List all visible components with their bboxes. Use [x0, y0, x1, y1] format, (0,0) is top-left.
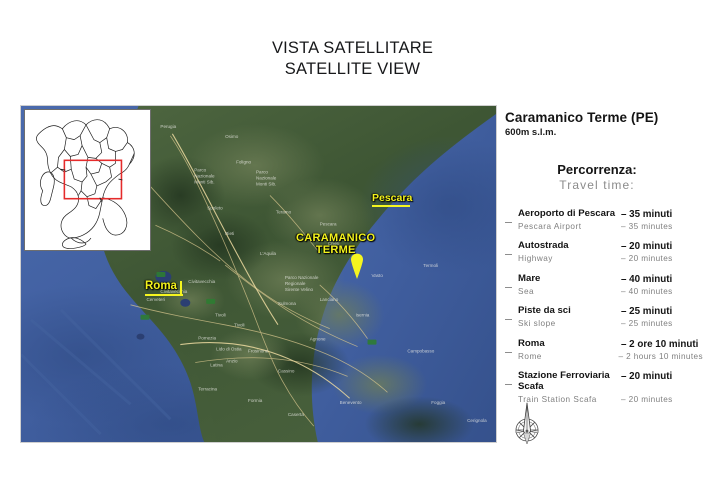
row-value-english: – 20 minutes [621, 254, 673, 263]
row-bullet-dash [505, 319, 512, 320]
svg-text:Pescara: Pescara [320, 221, 337, 226]
row-value-english: – 20 minutes [621, 395, 673, 404]
info-panel: Caramanico Terme (PE) 600m s.l.m. Percor… [505, 110, 703, 414]
row-value-english: – 25 minutes [621, 319, 673, 328]
svg-text:Termoli: Termoli [423, 263, 438, 268]
svg-text:Vasto: Vasto [372, 273, 384, 278]
row-name-italian: Autostrada [518, 241, 621, 252]
row-name-italian: Roma [518, 339, 621, 350]
travel-row-highway: Autostrada – 20 minuti Highway – 20 minu… [505, 241, 703, 263]
svg-text:Rieti: Rieti [225, 231, 234, 236]
page-title: VISTA SATELLITARE SATELLITE VIEW [0, 38, 705, 80]
map-label-pescara-underline [372, 205, 410, 207]
row-bullet-dash [505, 352, 512, 353]
svg-text:Latina: Latina [210, 362, 223, 367]
svg-text:Benevento: Benevento [340, 400, 362, 405]
row-name-english: Ski slope [518, 319, 621, 328]
row-value-italian: – 35 minuti [621, 209, 672, 220]
svg-text:Tivoli: Tivoli [234, 323, 244, 328]
svg-text:Cassino: Cassino [278, 368, 295, 373]
row-value-english: – 2 hours 10 minutes [619, 352, 703, 361]
row-value-italian: – 40 minuti [621, 274, 672, 285]
row-name-italian: Piste da sci [518, 306, 621, 317]
row-bullet-dash [505, 287, 512, 288]
svg-text:Cerignola: Cerignola [467, 418, 487, 423]
map-label-roma-connector [180, 281, 182, 295]
svg-text:Osimo: Osimo [225, 134, 239, 139]
compass-rose-icon [505, 400, 549, 450]
svg-text:Sirente Velino: Sirente Velino [285, 287, 314, 292]
svg-text:Lanciano: Lanciano [320, 297, 339, 302]
row-value-english: – 35 minutes [621, 222, 673, 231]
travel-row-rome: Roma – 2 ore 10 minuti Rome – 2 hours 10… [505, 339, 703, 361]
svg-text:Civitavecchia: Civitavecchia [188, 279, 215, 284]
travel-time-heading-italian: Percorrenza: [505, 162, 689, 177]
svg-text:Monti Sib.: Monti Sib. [256, 182, 276, 187]
italy-outline [25, 110, 150, 250]
svg-text:Formia: Formia [248, 398, 263, 403]
map-label-roma-underline [145, 294, 183, 296]
travel-time-heading: Percorrenza: Travel time: [505, 162, 703, 192]
row-name-italian: Stazione Ferroviaria Scafa [518, 371, 621, 392]
row-value-english: – 40 minutes [621, 287, 673, 296]
row-name-english: Rome [518, 352, 619, 361]
svg-text:Teramo: Teramo [276, 209, 292, 214]
svg-text:Monti Sib.: Monti Sib. [194, 180, 214, 185]
travel-row-ski-slope: Piste da sci – 25 minuti Ski slope – 25 … [505, 306, 703, 328]
row-name-english: Highway [518, 254, 621, 263]
travel-time-heading-english: Travel time: [505, 178, 689, 192]
map-label-pescara: Pescara [372, 192, 412, 204]
svg-text:Caserta: Caserta [288, 412, 304, 417]
travel-row-airport: Aeroporto di Pescara – 35 minuti Pescara… [505, 209, 703, 231]
svg-text:Nazionale: Nazionale [256, 176, 277, 181]
place-name: Caramanico Terme (PE) [505, 110, 703, 125]
place-altitude: 600m s.l.m. [505, 127, 703, 138]
row-value-italian: – 2 ore 10 minuti [621, 339, 698, 350]
svg-text:Lido di Ostia: Lido di Ostia [216, 347, 242, 352]
row-value-italian: – 20 minuti [621, 241, 672, 252]
svg-text:Pomezia: Pomezia [198, 336, 216, 341]
svg-text:Campobasso: Campobasso [407, 349, 434, 354]
svg-text:Parco: Parco [256, 170, 268, 175]
svg-text:Nazionale: Nazionale [194, 174, 215, 179]
svg-text:Regionale: Regionale [285, 281, 306, 286]
svg-text:Parco Nazionale: Parco Nazionale [285, 275, 319, 280]
svg-text:Terracina: Terracina [198, 386, 217, 391]
travel-time-list: Aeroporto di Pescara – 35 minuti Pescara… [505, 209, 703, 404]
row-name-english: Sea [518, 287, 621, 296]
svg-text:L'Aquila: L'Aquila [260, 251, 277, 256]
map-label-caramanico-line1: CARAMANICO [296, 232, 375, 244]
map-pin-icon [350, 253, 364, 279]
svg-text:Tivoli: Tivoli [215, 313, 225, 318]
row-name-english: Pescara Airport [518, 222, 621, 231]
svg-text:Frosinone: Frosinone [248, 349, 269, 354]
row-bullet-dash [505, 254, 512, 255]
svg-text:Anzio: Anzio [226, 358, 238, 363]
travel-row-sea: Mare – 40 minuti Sea – 40 minutes [505, 274, 703, 296]
svg-text:Cerveteri: Cerveteri [146, 297, 165, 302]
svg-text:Agnone: Agnone [310, 337, 326, 342]
title-line-english: SATELLITE VIEW [0, 59, 705, 80]
italy-locator-map[interactable] [24, 109, 151, 251]
svg-text:Perugia: Perugia [160, 124, 176, 129]
svg-text:Foligno: Foligno [236, 160, 251, 165]
row-value-italian: – 20 minuti [621, 371, 672, 382]
row-value-italian: – 25 minuti [621, 306, 672, 317]
svg-text:Sulmona: Sulmona [278, 301, 296, 306]
row-bullet-dash [505, 222, 512, 223]
compass-rose [505, 400, 549, 450]
svg-text:Spoleto: Spoleto [207, 205, 223, 210]
row-bullet-dash [505, 384, 512, 385]
svg-text:Parco: Parco [194, 168, 206, 173]
svg-text:Isernia: Isernia [356, 313, 370, 318]
row-name-italian: Mare [518, 274, 621, 285]
map-label-roma: Roma [145, 280, 177, 292]
svg-text:Foggia: Foggia [431, 400, 445, 405]
row-name-italian: Aeroporto di Pescara [518, 209, 621, 220]
title-line-italian: VISTA SATELLITARE [0, 38, 705, 59]
